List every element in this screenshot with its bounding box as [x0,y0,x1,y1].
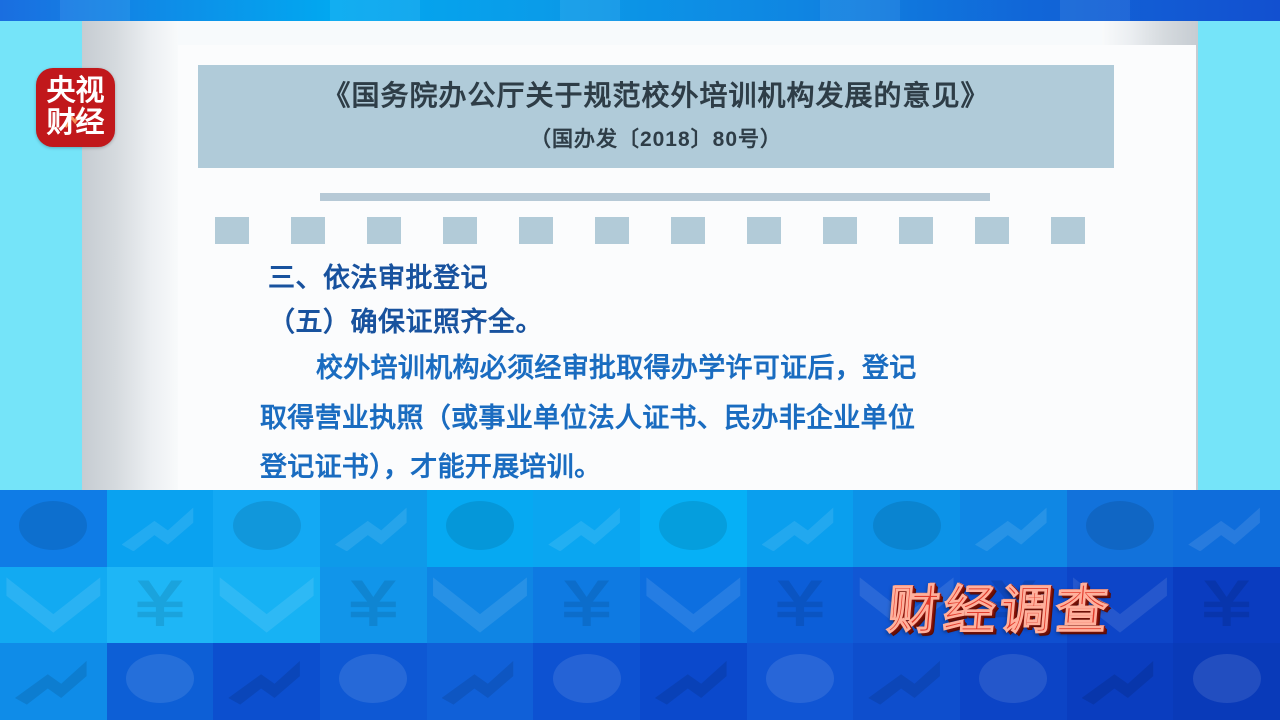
mosaic-tile [0,490,107,567]
arrow-icon [335,504,410,552]
decorative-square [823,217,857,244]
decorative-square [519,217,553,244]
mosaic-tile [107,643,214,720]
mosaic-tile [533,490,640,567]
document-header-box: 《国务院办公厅关于规范校外培训机构发展的意见》 （国办发〔2018〕80号） [198,65,1114,168]
yen-icon [1201,580,1252,626]
mosaic-tile [427,567,534,644]
yen-icon [774,580,825,626]
decorative-square-row [215,217,1115,244]
circle-icon [339,654,407,703]
mosaic-tile [853,490,960,567]
arrow-icon [655,657,730,705]
decorative-square [443,217,477,244]
logo-line-2: 财经 [36,108,115,138]
chevron-icon [640,567,747,644]
top-decor-strip [0,0,1280,21]
decorative-square [291,217,325,244]
arrow-icon [228,657,303,705]
mosaic-tile [1067,643,1174,720]
document-subtitle: （国办发〔2018〕80号） [530,123,782,153]
circle-icon [553,654,621,703]
circle-icon [233,501,301,550]
decorative-square [899,217,933,244]
program-title-logo: 财经调查 [885,568,1116,643]
mosaic-tile [533,643,640,720]
divider-bar [320,193,990,201]
arrow-icon [1082,657,1157,705]
document-body: 三、依法审批登记 （五）确保证照齐全。 校外培训机构必须经审批取得办学许可证后，… [260,257,1090,490]
mosaic-tile [533,567,640,644]
body-line-3: 登记证书），才能开展培训。 [260,443,1090,490]
arrow-icon [1188,504,1263,552]
decorative-square [595,217,629,244]
circle-icon [659,501,727,550]
decorative-square [975,217,1009,244]
arrow-icon [868,657,943,705]
circle-icon [126,654,194,703]
document-card: 《国务院办公厅关于规范校外培训机构发展的意见》 （国办发〔2018〕80号） 三… [178,45,1196,490]
mosaic-tile [1067,490,1174,567]
mosaic-tile [1173,643,1280,720]
section-heading: 三、依法审批登记 [260,257,1090,301]
mosaic-tile [640,643,747,720]
mosaic-tile [1173,567,1280,644]
mosaic-tile [853,643,960,720]
logo-line-1: 央视 [36,76,115,106]
circle-icon [979,654,1047,703]
cctv-finance-logo: 央视 财经 [36,68,115,147]
mosaic-tile [427,643,534,720]
mosaic-tile [640,567,747,644]
mosaic-tile [213,643,320,720]
body-line-1: 校外培训机构必须经审批取得办学许可证后，登记 [260,344,1090,393]
mosaic-tile [0,643,107,720]
mosaic-tile [640,490,747,567]
arrow-icon [442,657,517,705]
yen-icon [561,580,612,626]
graphic-stage: 《国务院办公厅关于规范校外培训机构发展的意见》 （国办发〔2018〕80号） 三… [0,21,1280,490]
yen-icon [348,580,399,626]
decorative-square [747,217,781,244]
mosaic-tile [427,490,534,567]
mosaic-tile [107,490,214,567]
arrow-icon [15,657,90,705]
mosaic-tile [320,643,427,720]
mosaic-tile [747,567,854,644]
arrow-icon [762,504,837,552]
body-line-2: 取得营业执照（或事业单位法人证书、民办非企业单位 [260,394,1090,443]
arrow-icon [548,504,623,552]
mosaic-tile [320,490,427,567]
chevron-icon [0,567,107,644]
decorative-square [1051,217,1085,244]
mosaic-tile [747,643,854,720]
mosaic-tile [747,490,854,567]
document-title: 《国务院办公厅关于规范校外培训机构发展的意见》 [322,80,989,112]
circle-icon [1193,654,1261,703]
mosaic-tile [960,643,1067,720]
yen-icon [134,580,185,626]
mosaic-tile [1173,490,1280,567]
circle-icon [1086,501,1154,550]
arrow-icon [122,504,197,552]
chevron-icon [213,567,320,644]
mosaic-tile [960,490,1067,567]
decorative-square [671,217,705,244]
right-cyan-band [1198,21,1280,490]
decorative-square [215,217,249,244]
circle-icon [19,501,87,550]
circle-icon [446,501,514,550]
mosaic-tile [320,567,427,644]
decorative-square [367,217,401,244]
chevron-icon [427,567,534,644]
mosaic-tile [213,490,320,567]
mosaic-tile [213,567,320,644]
mosaic-tile [0,567,107,644]
clause-heading: （五）确保证照齐全。 [260,301,1090,345]
circle-icon [766,654,834,703]
circle-icon [873,501,941,550]
mosaic-tile [107,567,214,644]
arrow-icon [975,504,1050,552]
